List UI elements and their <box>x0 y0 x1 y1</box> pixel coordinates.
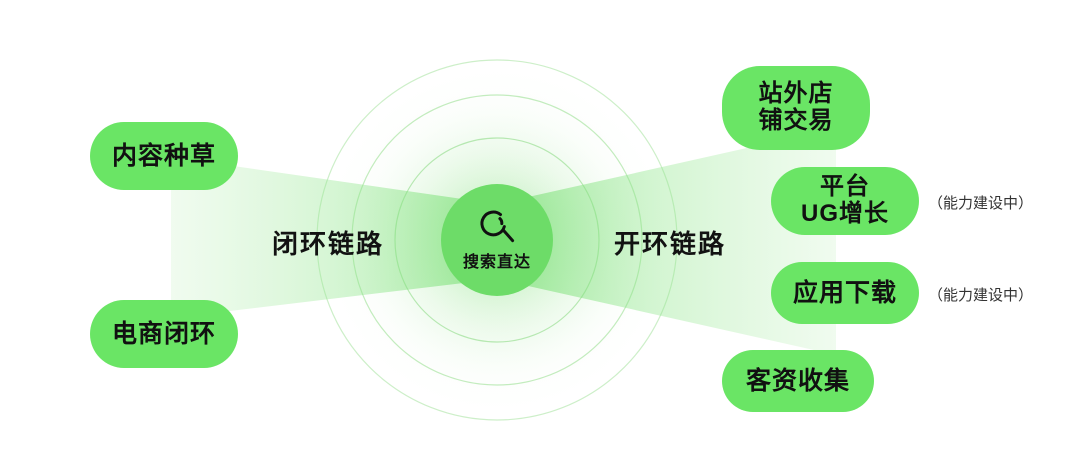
label-closed-loop-path: 闭环链路 <box>272 224 384 261</box>
note-ug-in-development: （能力建设中） <box>928 192 1033 213</box>
search-icon <box>477 208 517 246</box>
node-offsite-store-transaction[interactable]: 站外店 铺交易 <box>722 66 870 150</box>
node-app-download[interactable]: 应用下载 <box>771 262 919 324</box>
hub-search-direct[interactable]: 搜索直达 <box>441 184 553 296</box>
node-content-seeding[interactable]: 内容种草 <box>90 122 238 190</box>
node-lead-collection[interactable]: 客资收集 <box>722 350 874 412</box>
label-open-loop-path: 开环链路 <box>614 224 726 261</box>
note-download-in-development: （能力建设中） <box>928 284 1033 305</box>
hub-label: 搜索直达 <box>463 248 531 272</box>
node-platform-ug-growth[interactable]: 平台 UG增长 <box>771 167 919 235</box>
diagram-canvas: 搜索直达 闭环链路 开环链路 内容种草 电商闭环 站外店 铺交易 平台 UG增长… <box>0 0 1080 469</box>
node-ecommerce-closed-loop[interactable]: 电商闭环 <box>90 300 238 368</box>
